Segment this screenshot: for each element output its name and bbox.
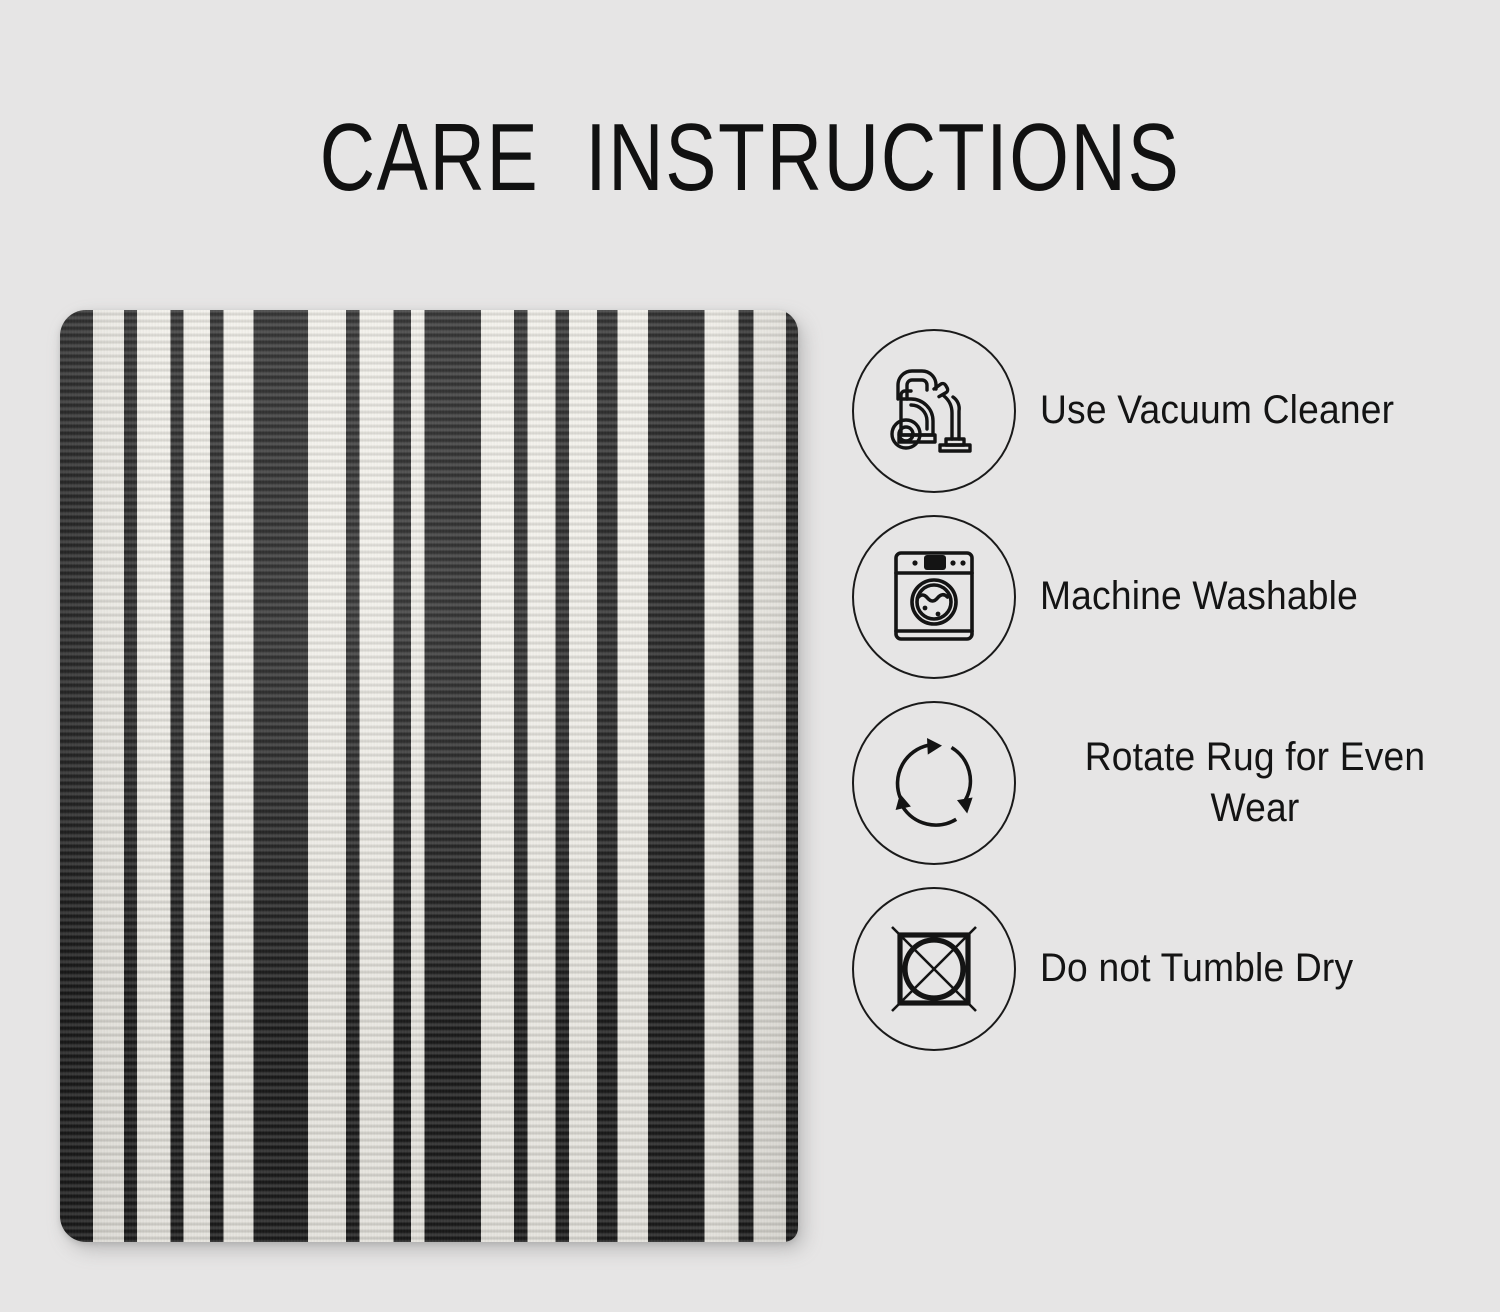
- care-label-vacuum: Use Vacuum Cleaner: [1040, 385, 1442, 436]
- care-instructions-list: Use Vacuum Cleaner: [852, 318, 1472, 1062]
- striped-rug-photo: [60, 310, 798, 1242]
- care-label-machine-wash: Machine Washable: [1040, 571, 1442, 622]
- rug-stripe-pattern: [60, 310, 798, 1242]
- care-label-rotate: Rotate Rug for Even Wear: [1055, 732, 1455, 834]
- care-item-no-tumble-dry: Do not Tumble Dry: [852, 876, 1472, 1062]
- care-item-rotate: Rotate Rug for Even Wear: [852, 690, 1472, 876]
- no-tumble-dry-icon: [852, 887, 1016, 1051]
- washing-machine-icon: [852, 515, 1016, 679]
- care-item-vacuum: Use Vacuum Cleaner: [852, 318, 1472, 504]
- care-item-machine-wash: Machine Washable: [852, 504, 1472, 690]
- vacuum-cleaner-icon: [852, 329, 1016, 493]
- product-image-wrapper: [60, 310, 798, 1242]
- rotate-arrows-icon: [852, 701, 1016, 865]
- page-title: CARE INSTRUCTIONS: [150, 108, 1350, 209]
- care-label-rotate-line2: Wear: [1211, 786, 1300, 830]
- care-label-rotate-line1: Rotate Rug for Even: [1085, 735, 1426, 779]
- care-label-no-tumble-dry: Do not Tumble Dry: [1040, 943, 1442, 994]
